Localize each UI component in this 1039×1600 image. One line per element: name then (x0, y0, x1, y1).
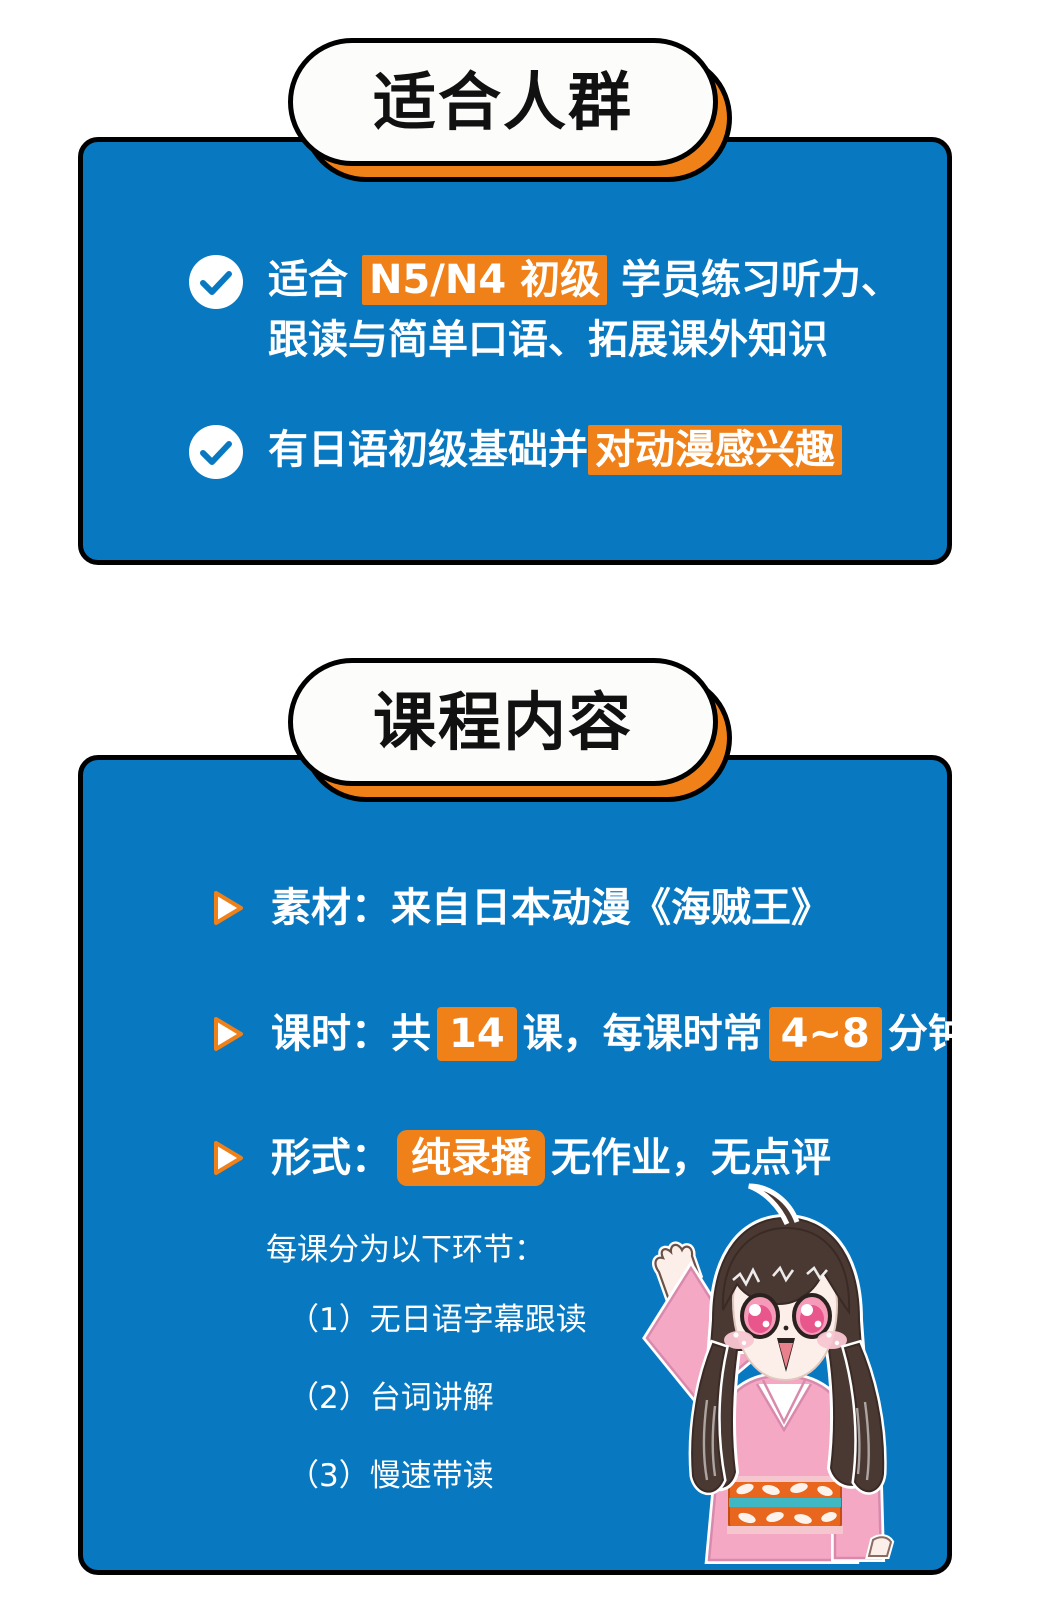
audience-item-0: 适合 N5/N4 初级 学员练习听力、跟读与简单口语、拓展课外知识 (188, 250, 918, 370)
audience-title-badge: 适合人群 (288, 38, 718, 166)
audience-title-text: 适合人群 (373, 71, 633, 134)
audience-item-1: 有日语初级基础并对动漫感兴趣 (188, 420, 842, 480)
bullet-0-part-0: 素材：来自日本动漫《海贼王》 (271, 885, 831, 931)
format-chip: 纯录播 (397, 1130, 545, 1186)
bullet-1-part-2: 课，每课时常 (523, 1011, 763, 1057)
audience-section: 适合 N5/N4 初级 学员练习听力、跟读与简单口语、拓展课外知识 有日语初级基… (0, 0, 1039, 600)
audience-item-0-text: 适合 N5/N4 初级 学员练习听力、跟读与简单口语、拓展课外知识 (268, 250, 918, 370)
anime-girl-kimono-waving-illustration (629, 1180, 929, 1570)
triangle-play-icon (211, 1139, 245, 1177)
content-section: 素材：来自日本动漫《海贼王》 课时：共14课，每课时常4~8分钟 形式：纯录 (0, 620, 1039, 1600)
audience-0-part-0: 适合 (268, 257, 362, 303)
lesson-structure-item-1: （2）台词讲解 (288, 1378, 494, 1418)
badge-main-content: 课程内容 (288, 658, 718, 786)
lesson-count-chip: 14 (437, 1007, 517, 1061)
audience-0-highlight: N5/N4 初级 (362, 255, 607, 305)
check-circle-icon (188, 254, 244, 310)
audience-card: 适合 N5/N4 初级 学员练习听力、跟读与简单口语、拓展课外知识 有日语初级基… (78, 137, 952, 565)
content-bullet-2-text: 形式：纯录播无作业，无点评 (271, 1130, 831, 1186)
audience-1-highlight: 对动漫感兴趣 (588, 425, 842, 475)
content-bullet-0-text: 素材：来自日本动漫《海贼王》 (271, 882, 831, 934)
audience-item-1-text: 有日语初级基础并对动漫感兴趣 (268, 420, 842, 480)
content-bullet-1-text: 课时：共14课，每课时常4~8分钟 (271, 1007, 968, 1061)
lesson-structure-item-2: （3）慢速带读 (288, 1456, 494, 1496)
badge-main-audience: 适合人群 (288, 38, 718, 166)
bullet-1-part-4: 分钟 (888, 1011, 968, 1057)
content-card: 素材：来自日本动漫《海贼王》 课时：共14课，每课时常4~8分钟 形式：纯录 (78, 755, 952, 1575)
content-bullet-1: 课时：共14课，每课时常4~8分钟 (211, 1007, 968, 1061)
content-title-text: 课程内容 (373, 691, 633, 754)
bullet-1-part-0: 课时：共 (271, 1011, 431, 1057)
check-circle-icon (188, 424, 244, 480)
bullet-2-part-0: 形式： (271, 1135, 391, 1181)
lesson-structure-heading: 每课分为以下环节： (266, 1230, 545, 1270)
content-title-badge: 课程内容 (288, 658, 718, 786)
bullet-2-part-2: 无作业，无点评 (551, 1135, 831, 1181)
audience-1-part-0: 有日语初级基础并 (268, 427, 588, 473)
lesson-structure-item-0: （1）无日语字幕跟读 (288, 1300, 587, 1340)
content-bullet-2: 形式：纯录播无作业，无点评 (211, 1130, 831, 1186)
lesson-duration-chip: 4~8 (769, 1007, 882, 1061)
triangle-play-icon (211, 889, 245, 927)
triangle-play-icon (211, 1015, 245, 1053)
content-bullet-0: 素材：来自日本动漫《海贼王》 (211, 882, 831, 934)
